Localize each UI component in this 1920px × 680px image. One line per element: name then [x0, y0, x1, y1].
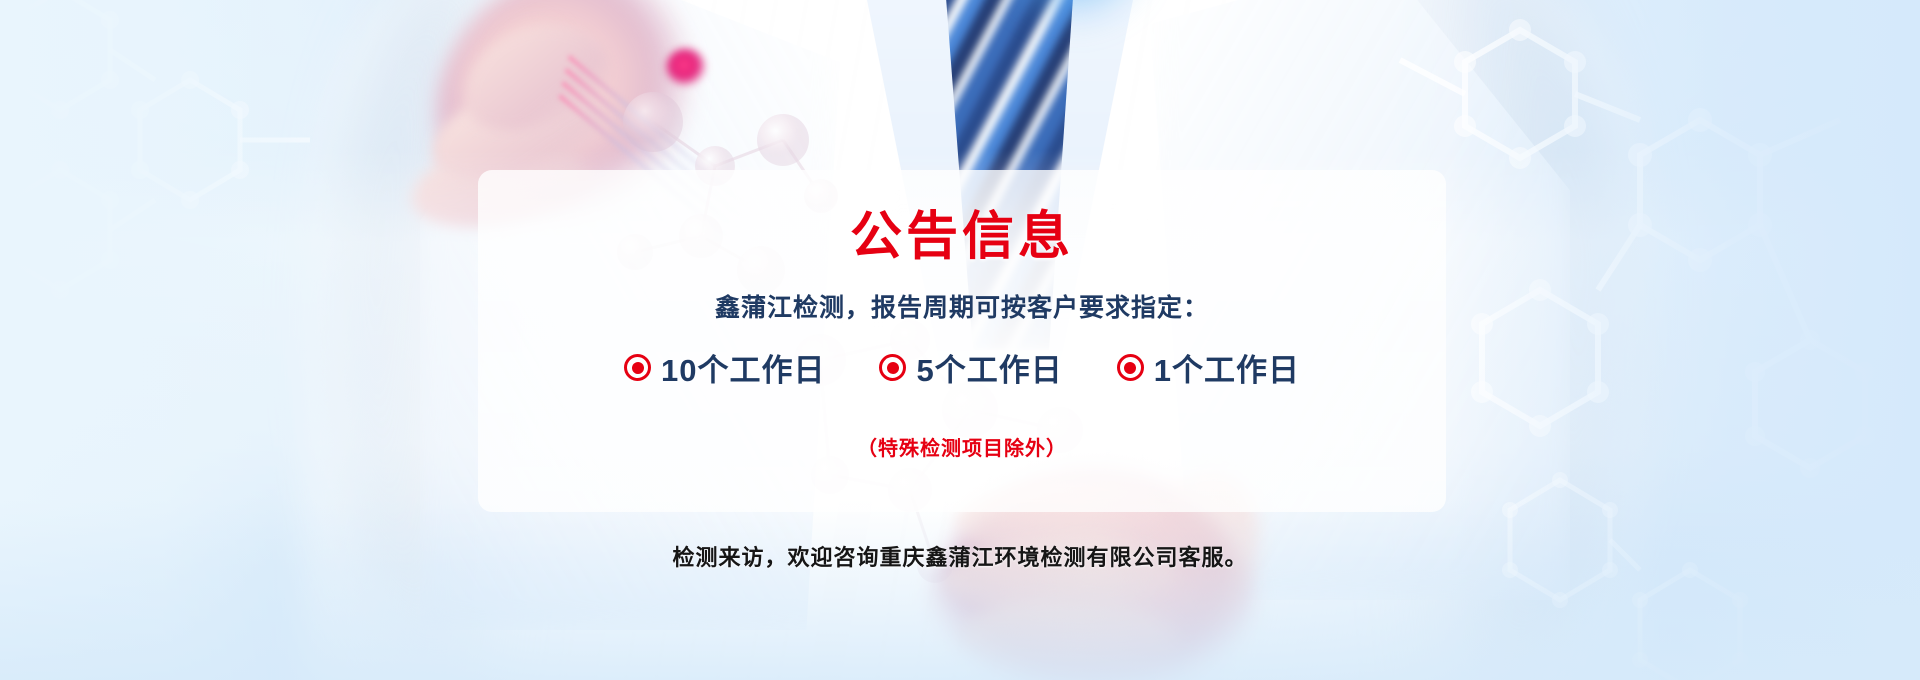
radio-filled-icon[interactable] [879, 354, 906, 381]
option-1-working-day[interactable]: 1个工作日 [1117, 345, 1300, 390]
option-label: 10个工作日 [661, 345, 825, 390]
exclusion-note: （特殊检测项目除外） [478, 432, 1446, 461]
option-label: 1个工作日 [1154, 345, 1300, 390]
contact-footer-text: 检测来访，欢迎咨询重庆鑫蒲江环境检测有限公司客服。 [0, 540, 1920, 572]
page-title: 公告信息 [478, 194, 1446, 269]
hexagon-pattern-left-icon [0, 0, 500, 380]
option-10-working-days[interactable]: 10个工作日 [624, 345, 825, 390]
option-5-working-days[interactable]: 5个工作日 [879, 345, 1062, 390]
card-subtitle: 鑫蒲江检测，报告周期可按客户要求指定： [478, 288, 1446, 324]
radio-filled-icon[interactable] [624, 354, 651, 381]
announcement-card: 公告信息 鑫蒲江检测，报告周期可按客户要求指定： 10个工作日 5个工作日 1个… [478, 170, 1446, 512]
turnaround-options-list: 10个工作日 5个工作日 1个工作日 [478, 345, 1446, 390]
radio-filled-icon[interactable] [1117, 354, 1144, 381]
option-label: 5个工作日 [916, 345, 1062, 390]
announcement-banner: 公告信息 鑫蒲江检测，报告周期可按客户要求指定： 10个工作日 5个工作日 1个… [0, 0, 1920, 680]
